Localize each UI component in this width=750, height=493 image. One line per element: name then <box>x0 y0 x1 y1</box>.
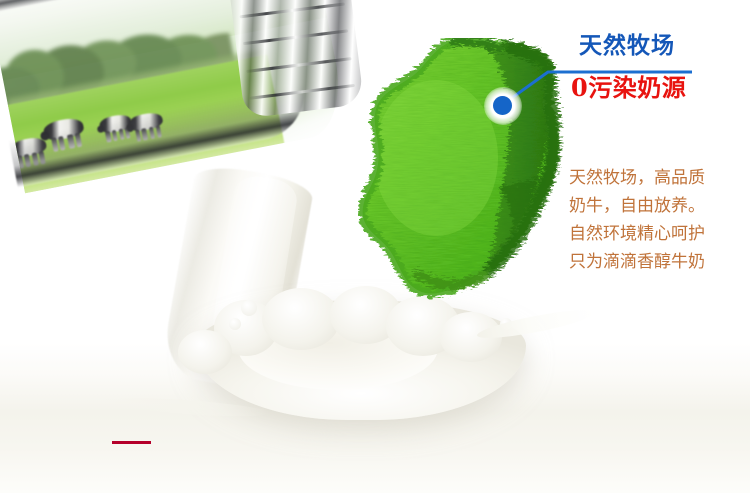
milk-droplet <box>241 300 257 316</box>
milk-droplet <box>229 318 241 330</box>
description-line: 自然环境精心呵护 <box>569 220 750 248</box>
red-rule <box>112 441 151 444</box>
description-text: 天然牧场，高品质 奶牛，自由放养。 自然环境精心呵护 只为滴滴香醇牛奶 <box>569 164 750 276</box>
description-line: 只为滴滴香醇牛奶 <box>569 248 750 276</box>
milk-splash-lobe <box>178 330 232 374</box>
description-line: 奶牛，自由放养。 <box>569 192 750 220</box>
map-marker-dot <box>493 96 512 115</box>
bottle-neck <box>224 0 364 119</box>
description-line: 天然牧场，高品质 <box>569 164 750 192</box>
callout-headline: 天然牧场 <box>579 33 675 59</box>
milk-splash-lobe <box>262 288 340 350</box>
callout-subheadline: 0污染奶源 <box>571 75 686 101</box>
promo-banner: 天然牧场 0污染奶源 天然牧场，高品质 奶牛，自由放养。 自然环境精心呵护 只为… <box>0 0 750 493</box>
